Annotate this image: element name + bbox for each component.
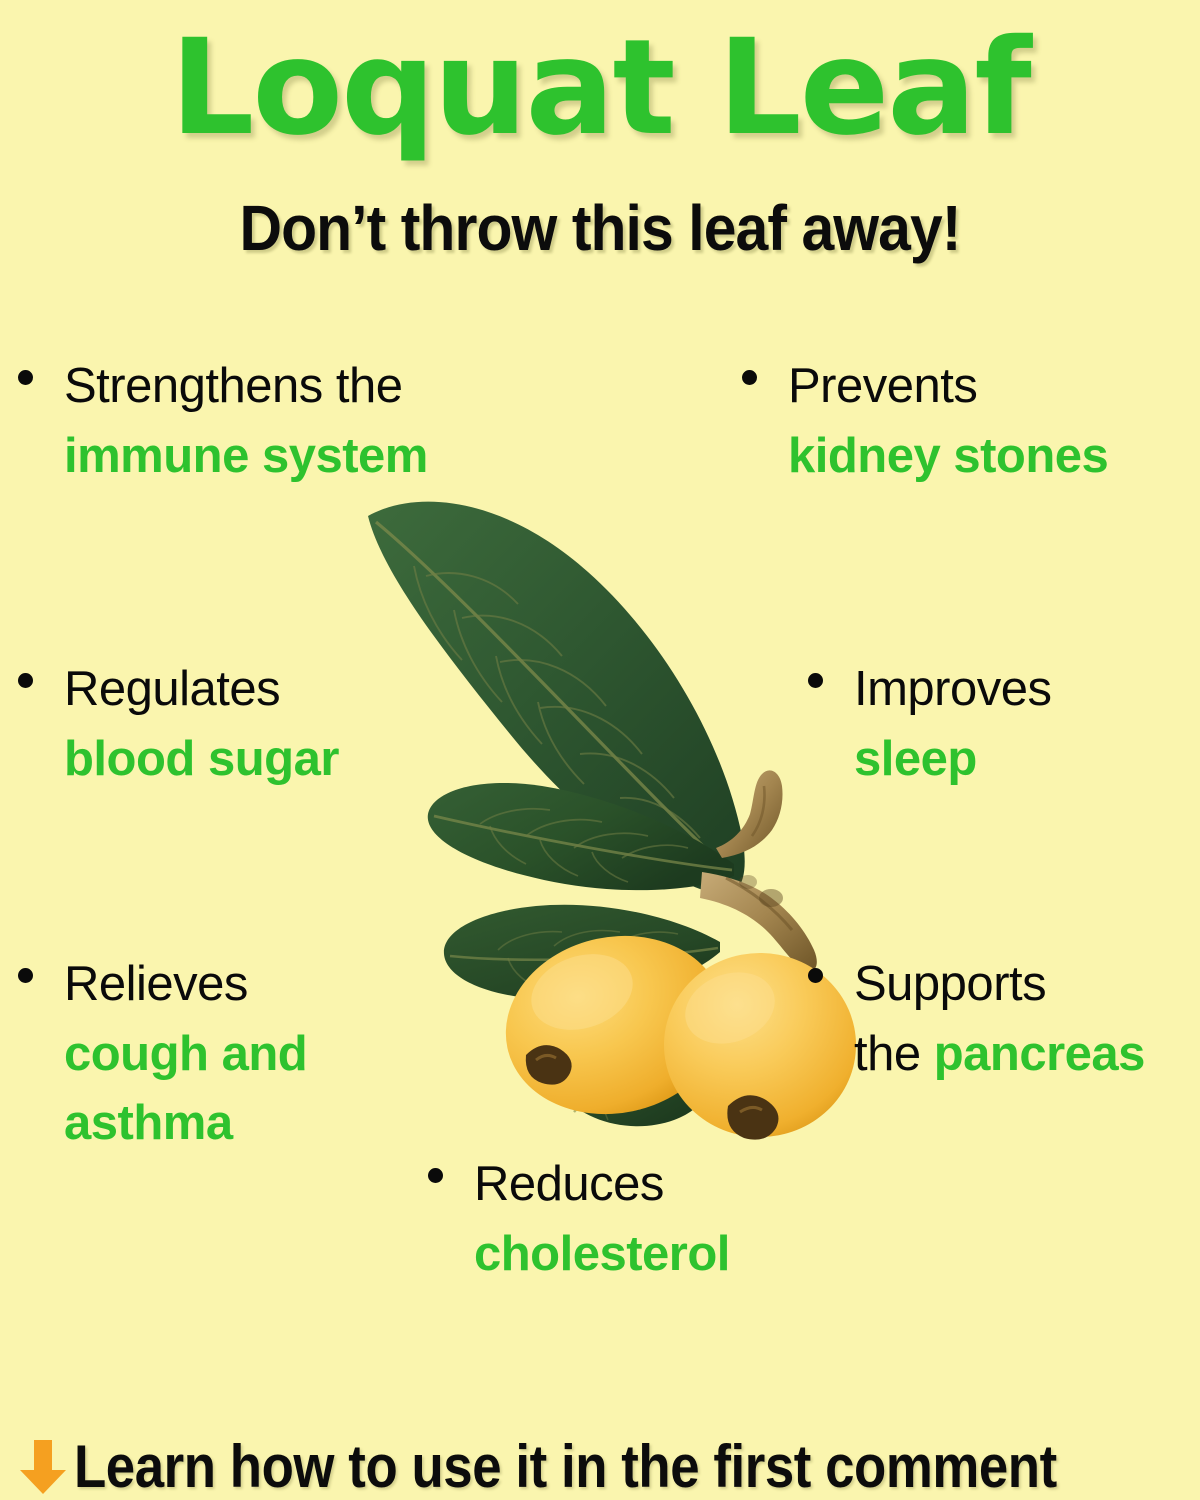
infographic-poster: Loquat Leaf Don’t throw this leaf away! bbox=[0, 0, 1200, 1500]
benefit-item-sleep: Improves sleep bbox=[808, 655, 1052, 794]
bullet-dot-icon bbox=[808, 968, 823, 983]
benefit-lead: Regulates bbox=[64, 655, 339, 725]
bullet-dot-icon bbox=[18, 673, 33, 688]
page-title: Loquat Leaf bbox=[0, 22, 1200, 154]
benefit-lead: Supports bbox=[854, 950, 1145, 1020]
benefit-item-immune: Strengthens the immune system bbox=[18, 352, 428, 491]
benefit-item-kidney: Prevents kidney stones bbox=[742, 352, 1108, 491]
footer-cta: Learn how to use it in the first comment bbox=[16, 1436, 1191, 1498]
benefit-lead: Relieves bbox=[64, 950, 307, 1020]
benefit-item-pancreas: Supports the pancreas bbox=[808, 950, 1145, 1089]
bullet-dot-icon bbox=[18, 968, 33, 983]
benefit-highlight: cholesterol bbox=[474, 1220, 730, 1290]
benefit-highlight: pancreas bbox=[934, 1027, 1145, 1081]
benefit-lead: Prevents bbox=[788, 352, 1108, 422]
benefit-lead: Reduces bbox=[474, 1150, 730, 1220]
page-subtitle: Don’t throw this leaf away! bbox=[48, 196, 1152, 260]
benefit-prefix: the bbox=[854, 1027, 934, 1081]
bullet-dot-icon bbox=[18, 370, 33, 385]
down-arrow-icon bbox=[16, 1436, 70, 1498]
benefit-lead: Strengthens the bbox=[64, 352, 428, 422]
footer-text: Learn how to use it in the first comment bbox=[74, 1437, 1057, 1497]
benefit-item-blood-sugar: Regulates blood sugar bbox=[18, 655, 339, 794]
bullet-dot-icon bbox=[808, 673, 823, 688]
benefit-item-cholesterol: Reduces cholesterol bbox=[428, 1150, 730, 1289]
benefit-highlight: kidney stones bbox=[788, 422, 1108, 492]
benefit-highlight: sleep bbox=[854, 725, 1052, 795]
benefit-highlight: blood sugar bbox=[64, 725, 339, 795]
bullet-dot-icon bbox=[428, 1168, 443, 1183]
bullet-dot-icon bbox=[742, 370, 757, 385]
benefit-highlight: cough and bbox=[64, 1020, 307, 1090]
loquat-branch-illustration bbox=[330, 480, 890, 1160]
benefit-item-cough-asthma: Relieves cough and asthma bbox=[18, 950, 307, 1159]
benefit-highlight-extra: asthma bbox=[64, 1089, 307, 1159]
benefit-lead: Improves bbox=[854, 655, 1052, 725]
benefit-highlight: immune system bbox=[64, 422, 428, 492]
